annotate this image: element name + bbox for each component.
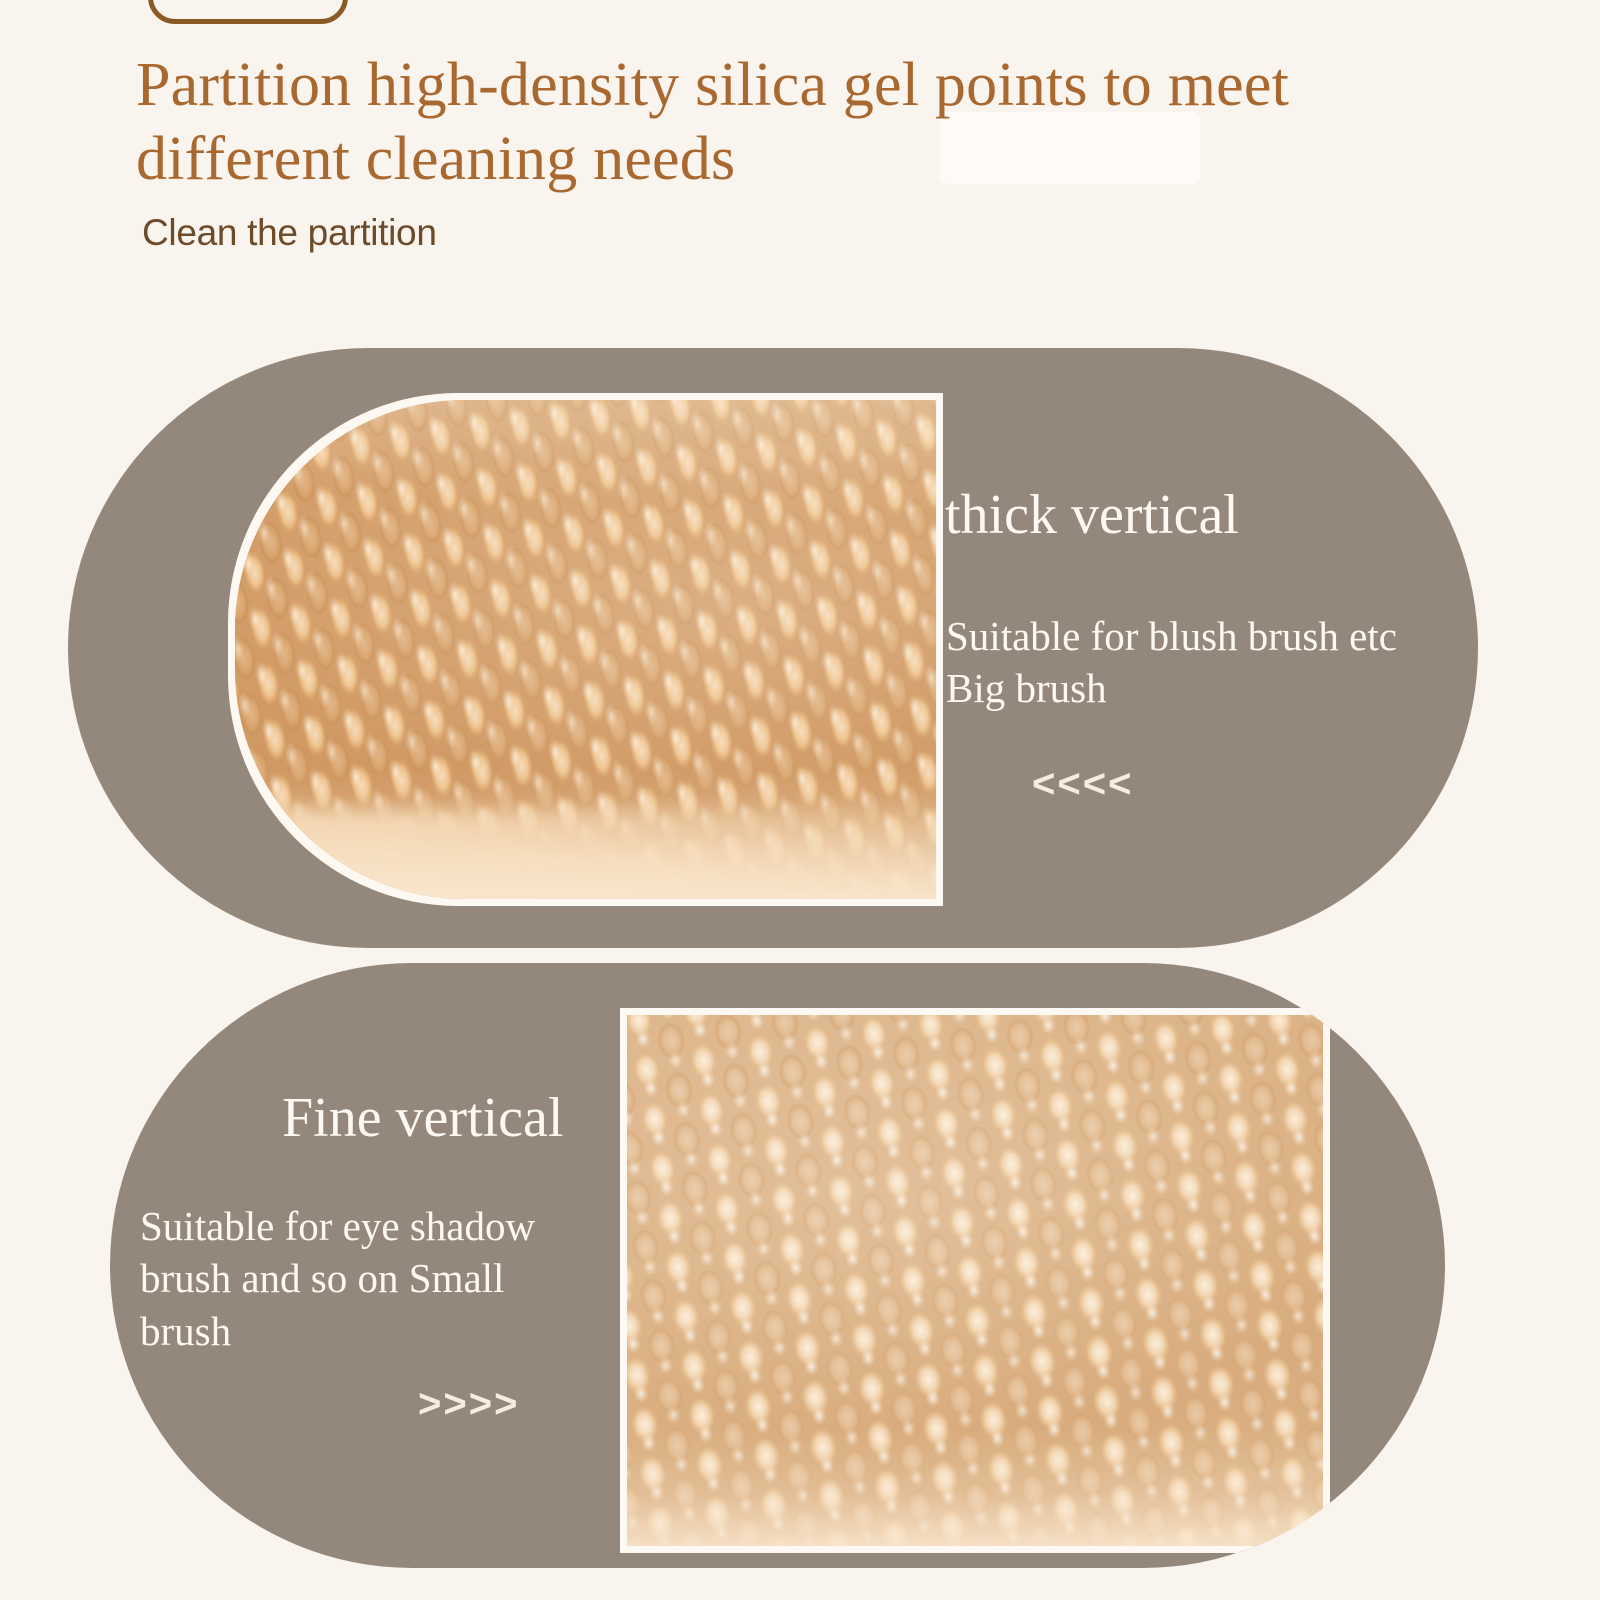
label-title-fine-vertical: Fine vertical <box>282 1088 563 1150</box>
page-headline: Partition high-density silica gel points… <box>136 48 1396 197</box>
arrows-right-icon: >>>> <box>418 1382 519 1427</box>
label-body-line-1: Suitable for eye shadow <box>140 1200 620 1252</box>
label-body-thick-vertical: Suitable for blush brush etc Big brush <box>946 610 1546 715</box>
label-body-line-2: brush and so on Small <box>140 1252 620 1304</box>
label-body-fine-vertical: Suitable for eye shadow brush and so on … <box>140 1200 620 1357</box>
label-body-line-3: brush <box>140 1305 620 1357</box>
photo-fine-vertical <box>620 1008 1330 1553</box>
photo-fine-vertical-inner <box>627 1015 1323 1546</box>
decorative-pill-badge <box>148 0 348 24</box>
label-body-line-2: Big brush <box>946 662 1546 714</box>
label-body-line-1: Suitable for blush brush etc <box>946 610 1546 662</box>
arrows-left-icon: <<<< <box>1032 762 1133 807</box>
page-subheading: Clean the partition <box>142 212 437 254</box>
silicone-thick-shading <box>235 400 936 899</box>
silicone-fine-shading <box>627 1015 1323 1546</box>
photo-thick-vertical <box>228 393 943 906</box>
label-title-thick-vertical: thick vertical <box>945 485 1239 547</box>
photo-thick-vertical-inner <box>235 400 936 899</box>
photo-fine-vertical-clip <box>620 1008 1330 1553</box>
